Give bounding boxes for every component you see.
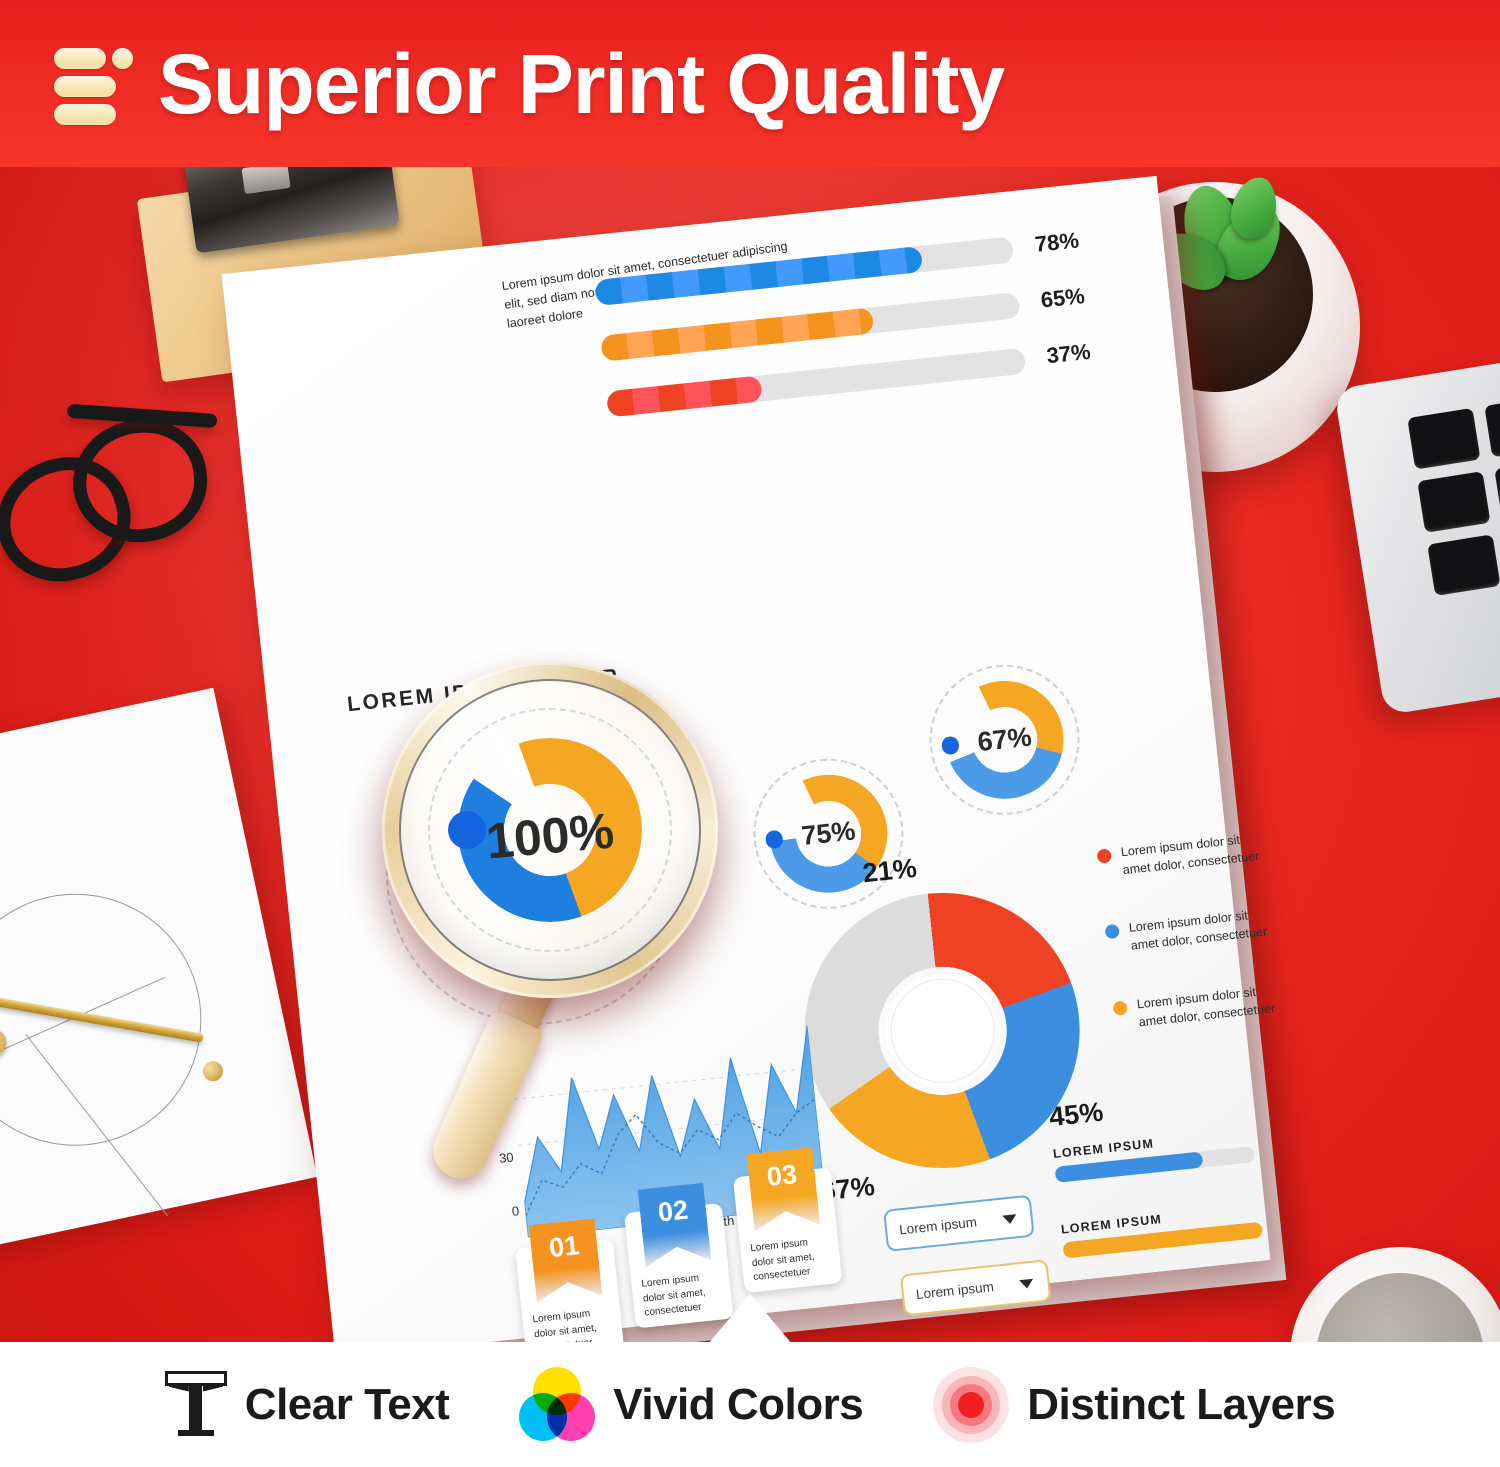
banner-notch xyxy=(708,1294,792,1344)
card-ribbon: 01 xyxy=(529,1218,603,1302)
feature-label: Vivid Colors xyxy=(613,1380,863,1430)
chevron-down-icon xyxy=(1019,1279,1034,1289)
y-tick: 30 xyxy=(498,1149,514,1165)
select-value: Lorem ipsum xyxy=(898,1214,977,1237)
card-number: 01 xyxy=(548,1230,581,1264)
card-text: Lorem ipsum dolor sit amet, consectetuer xyxy=(532,1305,616,1342)
legend-color-dot xyxy=(1105,924,1120,939)
gauge-value: 75% xyxy=(800,816,857,852)
select-dropdown[interactable]: Lorem ipsum xyxy=(900,1259,1052,1316)
donut-legend: Lorem ipsum dolor sit amet dolor, consec… xyxy=(1096,828,1289,1073)
compass-tip xyxy=(201,1059,225,1083)
donut-value: 45% xyxy=(1048,1097,1105,1133)
feature-vivid-colors: Vivid Colors xyxy=(519,1367,863,1443)
bar-value: 65% xyxy=(1040,283,1087,313)
promo-banner: Superior Print Quality xyxy=(0,0,1500,1467)
y-tick: 0 xyxy=(511,1203,520,1219)
cmyk-color-wheel-icon xyxy=(519,1367,595,1443)
select-group: Lorem ipsum Lorem ipsum xyxy=(883,1195,1044,1342)
feature-bar: Clear Text Vivid Colors Distinct Layers xyxy=(0,1342,1500,1467)
magnified-gauge-value: 100% xyxy=(484,802,616,871)
page-title: Superior Print Quality xyxy=(158,42,1004,126)
list-item[interactable]: 01 Lorem ipsum dolor sit amet, consectet… xyxy=(515,1239,625,1342)
feature-label: Clear Text xyxy=(245,1380,450,1430)
feature-clear-text: Clear Text xyxy=(165,1371,450,1439)
chevron-down-icon xyxy=(1002,1214,1017,1224)
slider-group: LOREM IPSUM LOREM IPSUM xyxy=(1052,1125,1277,1298)
slider[interactable]: LOREM IPSUM xyxy=(1060,1201,1273,1259)
desk-photo-scene: LOREM IPSUM DOLOR Lorem ipsum dolor sit … xyxy=(0,167,1500,1342)
card-ribbon: 02 xyxy=(638,1183,712,1267)
legend-item: Lorem ipsum dolor sit amet dolor, consec… xyxy=(1112,980,1285,1034)
legend-label: Lorem ipsum dolor sit amet dolor, consec… xyxy=(1120,828,1269,879)
magnifying-glass: 100% xyxy=(382,662,718,998)
legend-label: Lorem ipsum dolor sit amet dolor, consec… xyxy=(1136,980,1285,1031)
numbered-cards: 01 Lorem ipsum dolor sit amet, consectet… xyxy=(515,1215,847,1342)
concentric-layers-icon xyxy=(933,1367,1009,1443)
menu-list-icon xyxy=(54,42,132,126)
infographic-sheet: LOREM IPSUM DOLOR Lorem ipsum dolor sit … xyxy=(222,176,1271,1342)
header-banner: Superior Print Quality xyxy=(0,0,1500,167)
bar-value: 78% xyxy=(1034,227,1081,257)
select-dropdown[interactable]: Lorem ipsum xyxy=(883,1195,1035,1252)
bar-value: 37% xyxy=(1045,339,1092,369)
list-item[interactable]: 03 Lorem ipsum dolor sit amet, consectet… xyxy=(733,1167,843,1293)
donut-chart xyxy=(791,879,1093,1181)
legend-color-dot xyxy=(1097,848,1112,863)
clear-text-icon xyxy=(165,1371,227,1439)
magnified-gauge-endpoint-dot xyxy=(448,811,486,849)
horizontal-bar-chart: Lorem ipsum dolor sit amet, consectetuer… xyxy=(594,228,1109,447)
gauge-chart-67: 67% xyxy=(922,657,1087,822)
legend-item: Lorem ipsum dolor sit amet dolor, consec… xyxy=(1096,828,1269,882)
gauge-value: 67% xyxy=(976,722,1033,758)
feature-distinct-layers: Distinct Layers xyxy=(933,1367,1335,1443)
feature-label: Distinct Layers xyxy=(1027,1380,1335,1430)
legend-label: Lorem ipsum dolor sit amet dolor, consec… xyxy=(1128,904,1277,955)
legend-item: Lorem ipsum dolor sit amet dolor, consec… xyxy=(1104,904,1277,958)
card-text: Lorem ipsum dolor sit amet, consectetuer xyxy=(750,1234,834,1286)
slider[interactable]: LOREM IPSUM xyxy=(1052,1125,1265,1183)
donut-value: 21% xyxy=(861,853,918,889)
select-value: Lorem ipsum xyxy=(915,1278,994,1301)
gauge-chart-75: 75% xyxy=(746,751,911,916)
card-ribbon: 03 xyxy=(746,1147,820,1231)
magnifier-lens: 100% xyxy=(399,679,701,981)
card-number: 03 xyxy=(765,1159,798,1193)
laptop-keyboard xyxy=(1407,396,1500,596)
card-number: 02 xyxy=(657,1195,690,1229)
clipboard-clip xyxy=(184,167,400,253)
legend-color-dot xyxy=(1113,1000,1128,1015)
